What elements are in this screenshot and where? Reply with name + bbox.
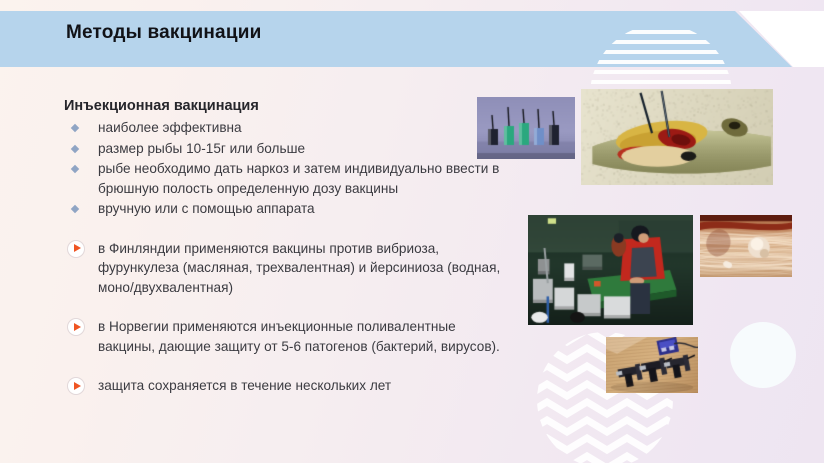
fish-dissection-photo [581, 89, 773, 185]
list-item: вручную или с помощью аппарата [64, 199, 514, 219]
play-triangle-icon [68, 378, 84, 394]
list-item-label: рыбе необходимо дать наркоз и затем инди… [98, 161, 499, 196]
dot-circle-icon [730, 322, 796, 388]
list-item-label: в Финляндии применяются вакцины против в… [98, 241, 500, 295]
tissue-closeup-photo [700, 215, 792, 277]
arrow-bullet-list: в Финляндии применяются вакцины против в… [64, 239, 514, 396]
list-item: размер рыбы 10-15г или больше [64, 139, 514, 159]
list-item: рыбе необходимо дать наркоз и затем инди… [64, 159, 514, 198]
list-item-label: вручную или с помощью аппарата [98, 201, 315, 216]
square-bullet-icon [71, 165, 79, 173]
square-bullet-icon [71, 205, 79, 213]
play-triangle-icon [68, 319, 84, 335]
list-item: в Финляндии применяются вакцины против в… [64, 239, 514, 298]
section-heading: Инъекционная вакцинация [64, 96, 514, 116]
list-item-label: в Норвегии применяются инъекционные поли… [98, 319, 500, 354]
square-bullet-icon [71, 144, 79, 152]
list-item-label: наиболее эффективна [98, 120, 242, 135]
list-item: наиболее эффективна [64, 118, 514, 138]
needles-photo [477, 97, 575, 159]
square-bullet-icon [71, 124, 79, 132]
list-item-label: размер рыбы 10-15г или больше [98, 141, 305, 156]
vaccination-machine-photo [528, 215, 693, 325]
play-triangle-icon [68, 241, 84, 257]
page-title: Методы вакцинации [66, 22, 261, 44]
list-item-label: защита сохраняется в течение нескольких … [98, 378, 391, 393]
plain-bullet-list: наиболее эффективна размер рыбы 10-15г и… [64, 118, 514, 219]
content-area: Инъекционная вакцинация наиболее эффекти… [64, 96, 514, 396]
list-item: в Норвегии применяются инъекционные поли… [64, 317, 514, 356]
vaccination-guns-photo [606, 337, 698, 393]
slide-canvas: Методы вакцинации Инъекционная вакцинаци… [0, 0, 824, 463]
list-item: защита сохраняется в течение нескольких … [64, 376, 514, 396]
